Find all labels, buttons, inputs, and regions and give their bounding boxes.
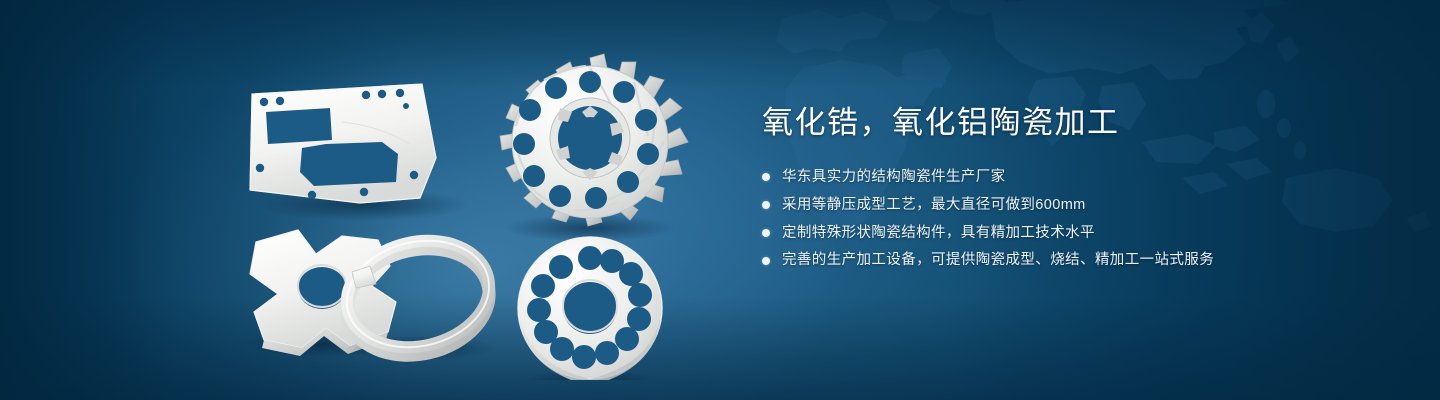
feature-text: 定制特殊形状陶瓷结构件，具有精加工技术水平 — [782, 225, 1095, 242]
feature-text: 采用等静压成型工艺，最大直径可做到600mm — [782, 197, 1086, 214]
feature-text: 华东具实力的结构陶瓷件生产厂家 — [782, 169, 1006, 186]
feature-text: 完善的生产加工设备，可提供陶瓷成型、烧结、精加工一站式服务 — [782, 252, 1214, 269]
ceramic-plate-shape — [250, 84, 470, 221]
ceramic-perforated-disc-shape — [518, 237, 662, 380]
bullet-dot-icon — [762, 229, 770, 237]
product-photo-group — [230, 40, 730, 380]
bullet-dot-icon — [762, 201, 770, 209]
list-item: 定制特殊形状陶瓷结构件，具有精加工技术水平 — [762, 225, 1402, 242]
page-title: 氧化锆，氧化铝陶瓷加工 — [762, 104, 1402, 143]
list-item: 完善的生产加工设备，可提供陶瓷成型、烧结、精加工一站式服务 — [762, 252, 1402, 269]
ceramic-impeller-shape — [500, 54, 688, 242]
bullet-dot-icon — [762, 257, 770, 265]
feature-list: 华东具实力的结构陶瓷件生产厂家 采用等静压成型工艺，最大直径可做到600mm 定… — [762, 169, 1402, 270]
copy-block: 氧化锆，氧化铝陶瓷加工 华东具实力的结构陶瓷件生产厂家 采用等静压成型工艺，最大… — [762, 104, 1402, 280]
ceramic-processing-banner: 氧化锆，氧化铝陶瓷加工 华东具实力的结构陶瓷件生产厂家 采用等静压成型工艺，最大… — [0, 0, 1440, 400]
bullet-dot-icon — [762, 173, 770, 181]
list-item: 采用等静压成型工艺，最大直径可做到600mm — [762, 197, 1402, 214]
list-item: 华东具实力的结构陶瓷件生产厂家 — [762, 169, 1402, 186]
